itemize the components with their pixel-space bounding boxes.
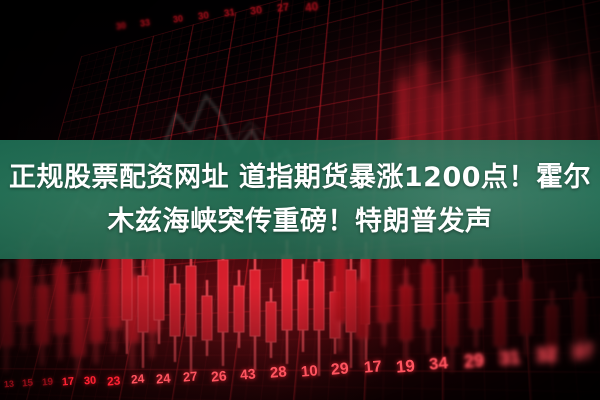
headline-line-1: 正规股票配资网址 道指期货暴涨1200点！霍尔 (9, 156, 591, 200)
headline-line-2: 木兹海峡突传重磅！特朗普发声 (108, 200, 493, 244)
news-thumbnail-image: 13 15 19 17 30 23 24 24 27 26 43 28 10 2… (0, 0, 600, 400)
headline-banner: 正规股票配资网址 道指期货暴涨1200点！霍尔 木兹海峡突传重磅！特朗普发声 (0, 140, 600, 259)
